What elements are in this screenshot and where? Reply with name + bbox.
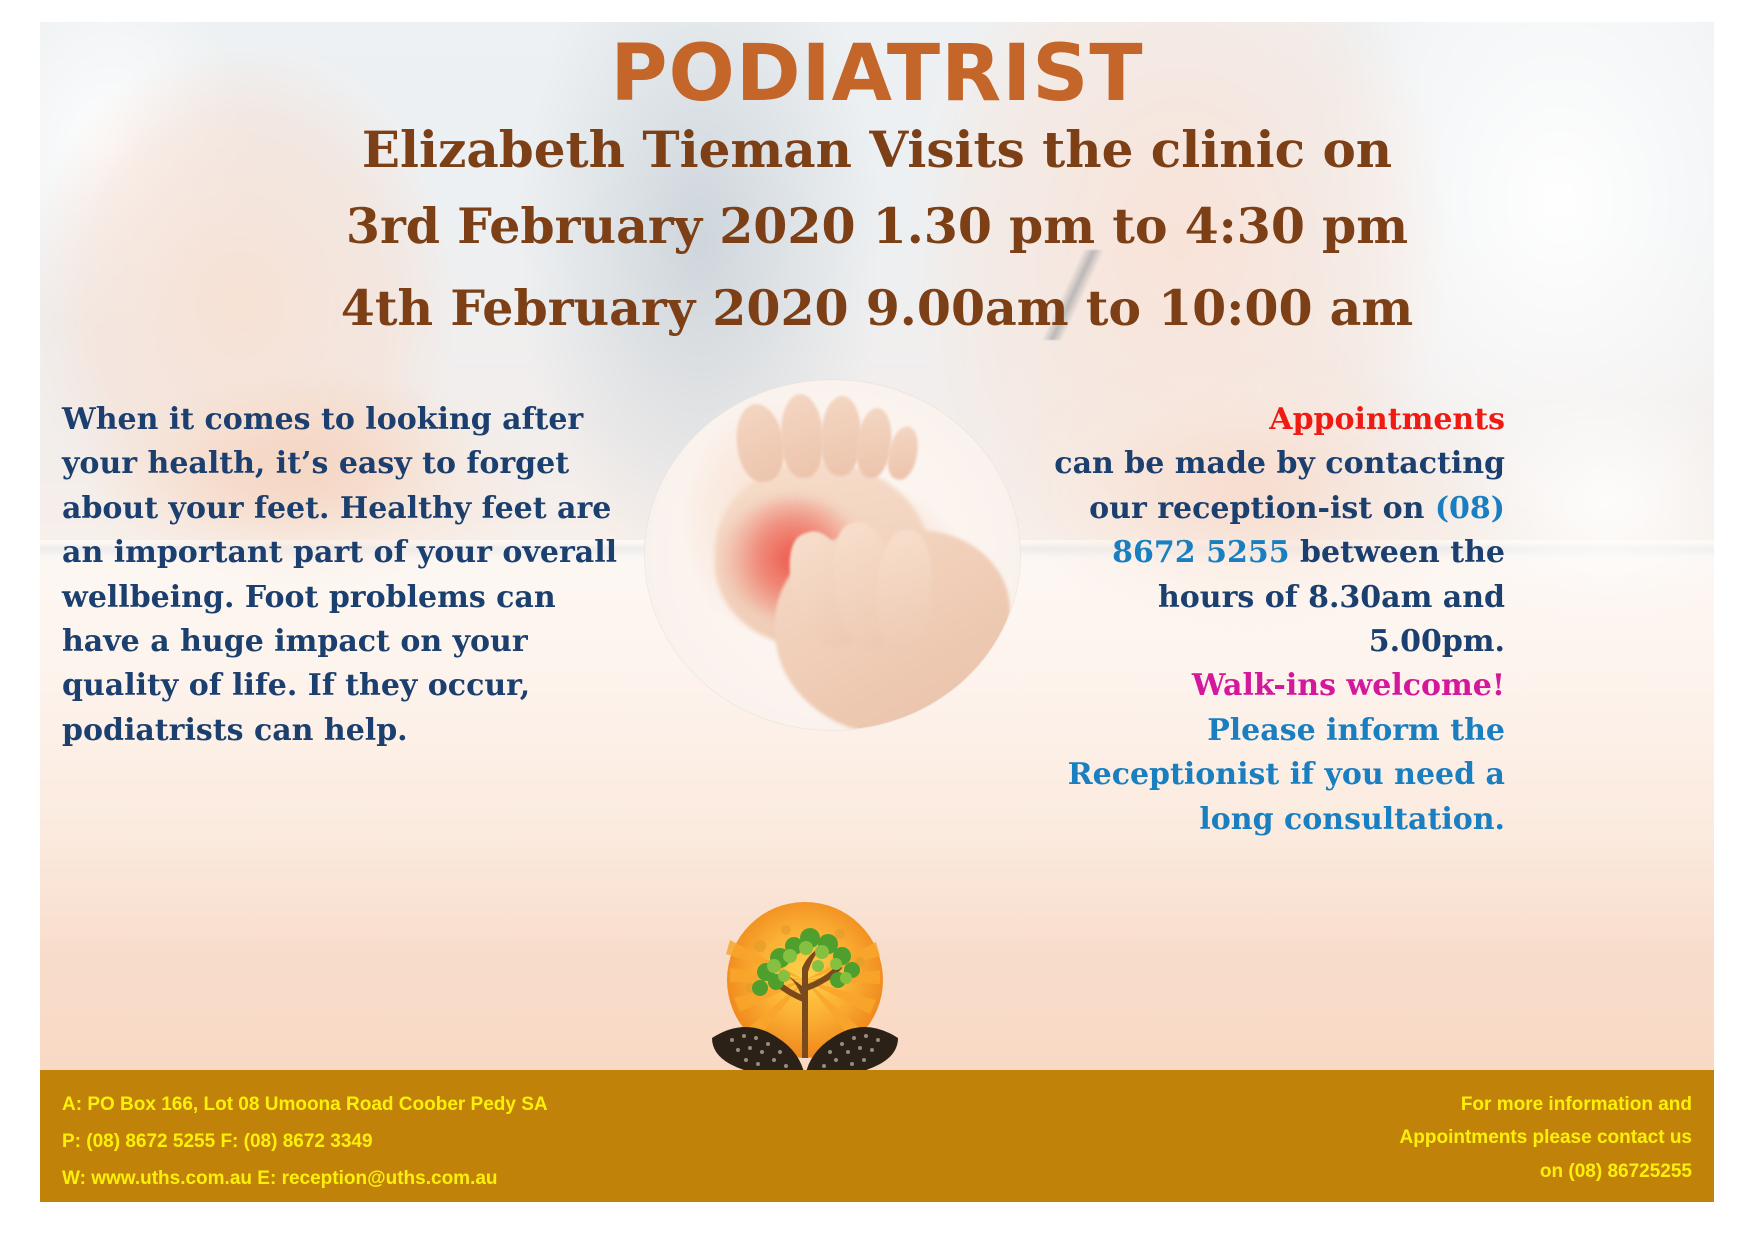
page-margin-top: [0, 0, 1754, 22]
footer-bar: A: PO Box 166, Lot 08 Umoona Road Coober…: [40, 1070, 1714, 1202]
page-margin-right: [1714, 0, 1754, 1240]
toe-shape: [820, 395, 863, 476]
footer-web-email: W: www.uths.com.au E: reception@uths.com…: [62, 1160, 548, 1197]
page-margin-bottom: [0, 1202, 1754, 1240]
info-paragraph: When it comes to looking after your heal…: [62, 398, 642, 753]
footer-more-info-line-1: For more information and: [1400, 1088, 1692, 1121]
poster: PODIATRIST Elizabeth Tieman Visits the c…: [0, 0, 1754, 1240]
subtitle: Elizabeth Tieman Visits the clinic on: [0, 122, 1754, 178]
walk-ins-notice: Walk-ins welcome!: [1050, 664, 1505, 708]
foot-pain-circle-image: [645, 380, 1020, 730]
footer-more-info: For more information and Appointments pl…: [1400, 1088, 1692, 1188]
footer-contact-details: A: PO Box 166, Lot 08 Umoona Road Coober…: [62, 1086, 548, 1197]
page-margin-left: [0, 0, 40, 1240]
date-line-2: 4th February 2020 9.00am to 10:00 am: [0, 282, 1754, 336]
footer-phone-fax: P: (08) 8672 5255 F: (08) 8672 3349: [62, 1123, 548, 1160]
page-title: PODIATRIST: [0, 34, 1754, 116]
date-line-1: 3rd February 2020 1.30 pm to 4:30 pm: [0, 200, 1754, 254]
appointments-block: Appointmentscan be made by contacting ou…: [1050, 398, 1505, 842]
tree-in-hands-icon: [690, 888, 920, 1088]
long-consultation-notice: Please inform the Receptionist if you ne…: [1068, 713, 1505, 837]
footer-more-info-line-3: on (08) 86725255: [1400, 1155, 1692, 1188]
footer-more-info-line-2: Appointments please contact us: [1400, 1121, 1692, 1154]
footer-address: A: PO Box 166, Lot 08 Umoona Road Coober…: [62, 1086, 548, 1123]
headline-block: PODIATRIST Elizabeth Tieman Visits the c…: [0, 34, 1754, 336]
appointments-heading: Appointments: [1050, 398, 1505, 442]
